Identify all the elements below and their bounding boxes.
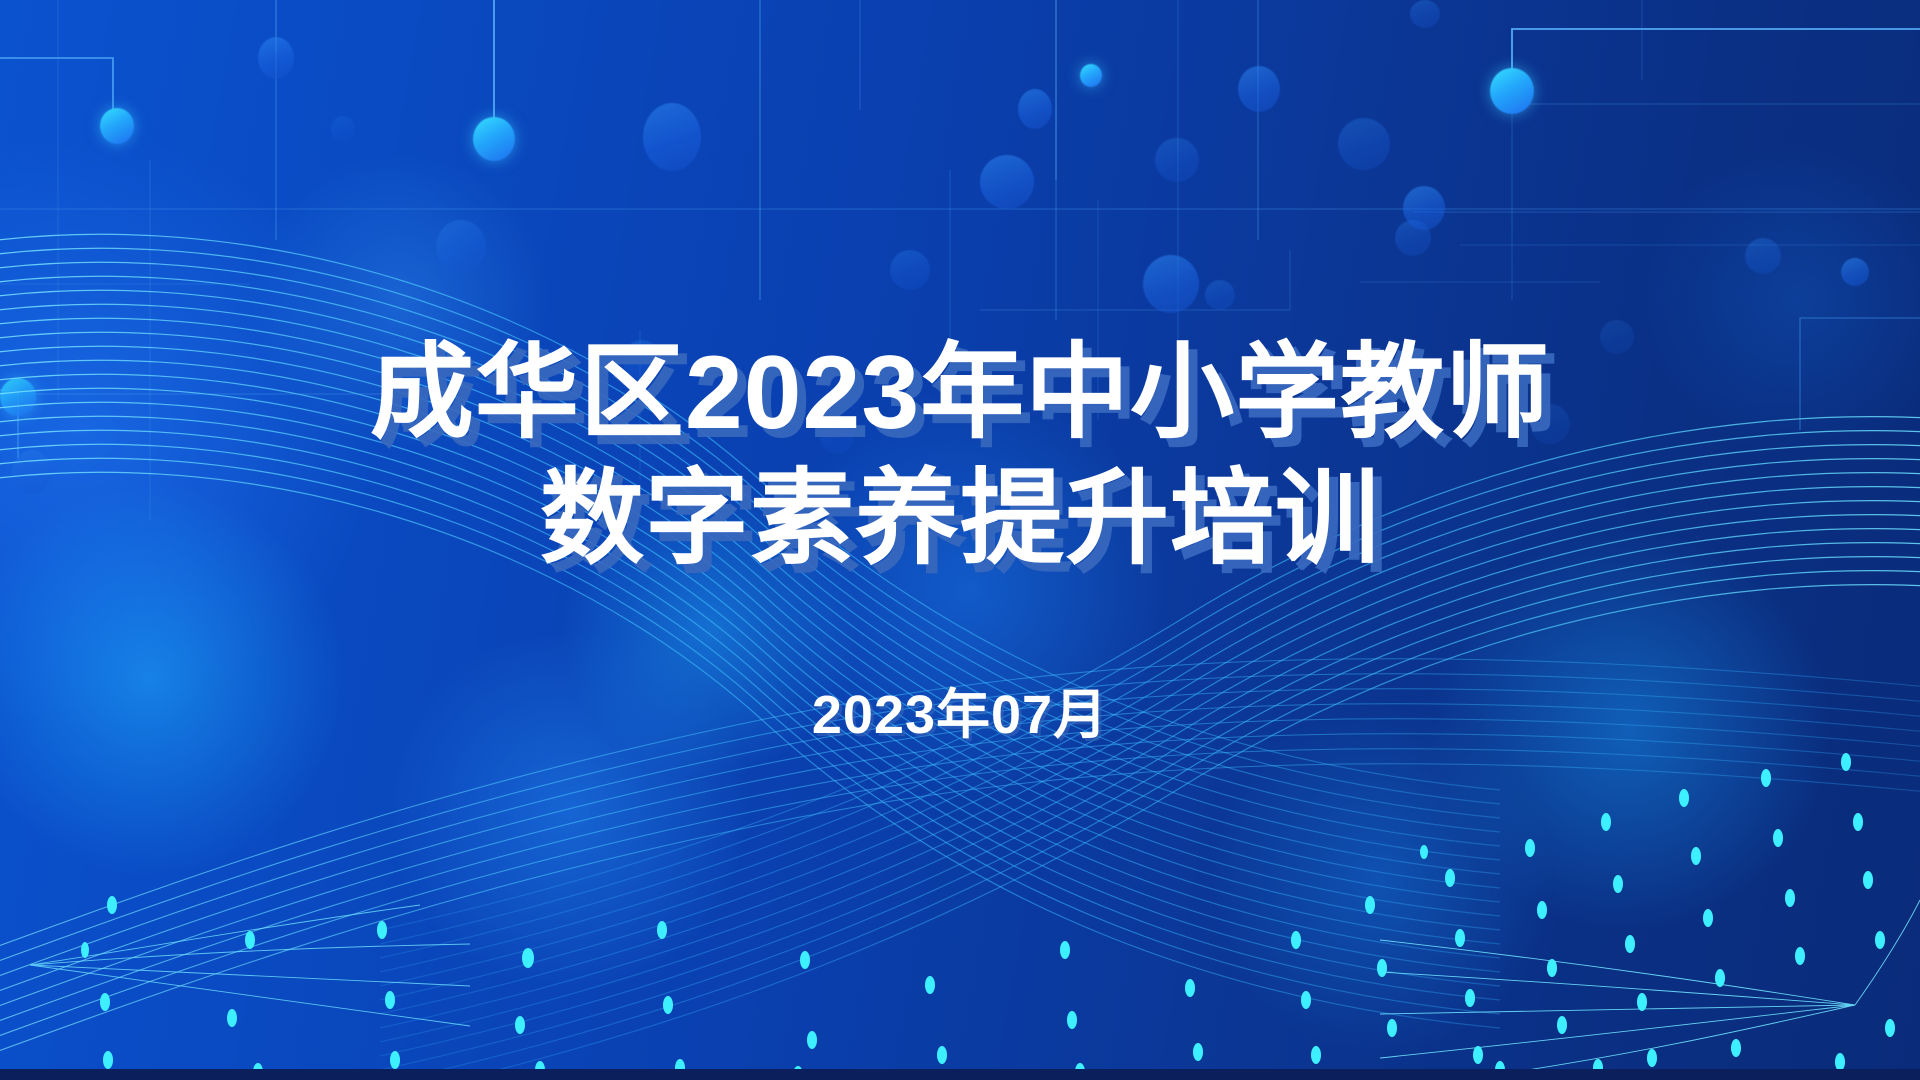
node-dot: [643, 103, 701, 171]
node-dot: [258, 37, 294, 79]
title-block: 成华区2023年中小学教师 数字素养提升培训 2023年07月: [0, 330, 1920, 749]
node-dot: [1338, 118, 1390, 170]
node-dot: [890, 250, 930, 290]
node-dot: [1238, 66, 1280, 112]
node-dot: [1490, 68, 1534, 114]
node-dot: [100, 108, 134, 144]
node-dot: [473, 117, 515, 161]
slide-date: 2023年07月: [0, 670, 1920, 749]
page-title-line-1: 成华区2023年中小学教师: [0, 330, 1920, 456]
node-dot: [1403, 186, 1445, 230]
node-dot: [1205, 280, 1235, 310]
title-slide: 成华区2023年中小学教师 数字素养提升培训 2023年07月: [0, 0, 1920, 1080]
node-dot: [331, 116, 355, 142]
node-dot: [1143, 255, 1199, 313]
node-dot: [1841, 258, 1869, 286]
node-dot: [1018, 89, 1052, 129]
node-dot: [1745, 238, 1781, 274]
bottom-accent-strip: [0, 1069, 1920, 1080]
node-dot: [980, 155, 1034, 209]
page-title-line-2: 数字素养提升培训: [0, 456, 1920, 582]
node-dot: [1155, 138, 1199, 182]
node-dot: [1410, 0, 1440, 28]
node-dot: [436, 220, 486, 274]
node-dot: [1080, 64, 1102, 87]
